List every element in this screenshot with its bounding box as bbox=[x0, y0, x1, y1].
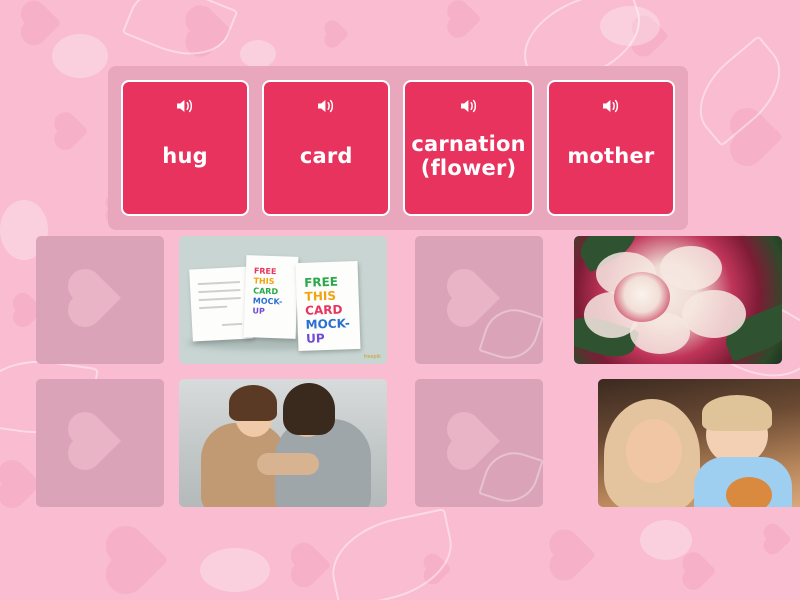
word-card-hug[interactable]: hug bbox=[121, 80, 249, 216]
background-leaf-icon bbox=[682, 35, 798, 147]
leaf-icon bbox=[478, 444, 543, 507]
petal bbox=[660, 246, 722, 290]
background-heart-icon bbox=[112, 532, 169, 589]
mockup-text-free: FREE bbox=[254, 267, 277, 276]
mockup-text-card-large: CARD bbox=[305, 304, 343, 317]
flower-center bbox=[614, 272, 670, 322]
background-heart-icon bbox=[554, 534, 596, 576]
blank-drop-zone-2[interactable] bbox=[415, 236, 543, 364]
speaker-icon[interactable] bbox=[459, 98, 479, 114]
word-card-label: mother bbox=[567, 144, 654, 168]
mockup-text-mock-large: MOCK- bbox=[305, 317, 350, 331]
blank-drop-zone-4[interactable] bbox=[415, 379, 543, 507]
blank-drop-zone-1[interactable] bbox=[36, 236, 164, 364]
mockup-card-middle: FREE THIS CARD MOCK- UP bbox=[244, 255, 299, 339]
word-card-label: hug bbox=[162, 144, 208, 168]
heart-icon bbox=[452, 417, 500, 465]
background-leaf-icon bbox=[122, 0, 239, 70]
person-left-hair bbox=[229, 385, 277, 421]
pumpkin bbox=[726, 477, 772, 507]
speaker-icon[interactable] bbox=[601, 98, 621, 114]
mockup-text-up: UP bbox=[252, 307, 265, 315]
speaker-icon[interactable] bbox=[175, 98, 195, 114]
background-leaf-icon bbox=[323, 508, 461, 600]
mockup-text-mock: MOCK- bbox=[253, 297, 283, 306]
background-heart-icon bbox=[327, 23, 350, 46]
mockup-text-up-large: UP bbox=[306, 332, 325, 345]
mockup-text-this-large: THIS bbox=[304, 290, 336, 303]
mother-face bbox=[626, 419, 682, 483]
background-heart-icon bbox=[57, 115, 88, 146]
embracing-arm bbox=[257, 453, 319, 475]
person-right-hair bbox=[283, 383, 335, 435]
background-heart-icon bbox=[685, 555, 716, 586]
image-two-women-hugging[interactable] bbox=[179, 379, 387, 507]
image-grid: FREE THIS CARD MOCK- UP FREE THIS CARD M… bbox=[36, 236, 764, 519]
word-card-card[interactable]: card bbox=[262, 80, 390, 216]
word-card-tray: hug card carnation (flower) bbox=[108, 66, 688, 230]
mockup-card-right: FREE THIS CARD MOCK- UP bbox=[295, 261, 360, 351]
baby-hair bbox=[702, 395, 772, 431]
speaker-icon[interactable] bbox=[316, 98, 336, 114]
background-blob bbox=[240, 40, 276, 68]
background-heart-icon bbox=[25, 5, 62, 42]
petal bbox=[682, 290, 746, 338]
image-greeting-card-mockup[interactable]: FREE THIS CARD MOCK- UP FREE THIS CARD M… bbox=[179, 236, 387, 364]
heart-icon bbox=[73, 274, 121, 322]
background-blob bbox=[200, 548, 270, 592]
background-heart-icon bbox=[295, 547, 332, 584]
blank-drop-zone-3[interactable] bbox=[36, 379, 164, 507]
mockup-text-this: THIS bbox=[253, 277, 274, 286]
image-mother-and-baby[interactable] bbox=[598, 379, 800, 507]
background-heart-icon bbox=[766, 526, 791, 551]
word-card-carnation[interactable]: carnation (flower) bbox=[403, 80, 534, 216]
mockup-text-card: CARD bbox=[253, 287, 278, 296]
heart-icon bbox=[452, 274, 500, 322]
background-heart-icon bbox=[450, 3, 481, 34]
mockup-credit-text: freepik bbox=[364, 354, 381, 360]
leaf-icon bbox=[478, 301, 543, 364]
word-card-label: card bbox=[300, 144, 353, 168]
mockup-text-free-large: FREE bbox=[304, 276, 338, 289]
word-card-label: carnation (flower) bbox=[411, 132, 526, 181]
background-blob bbox=[640, 520, 692, 560]
word-card-mother[interactable]: mother bbox=[547, 80, 675, 216]
image-carnation-flower[interactable] bbox=[574, 236, 782, 364]
background-blob bbox=[52, 34, 108, 78]
heart-icon bbox=[73, 417, 121, 465]
